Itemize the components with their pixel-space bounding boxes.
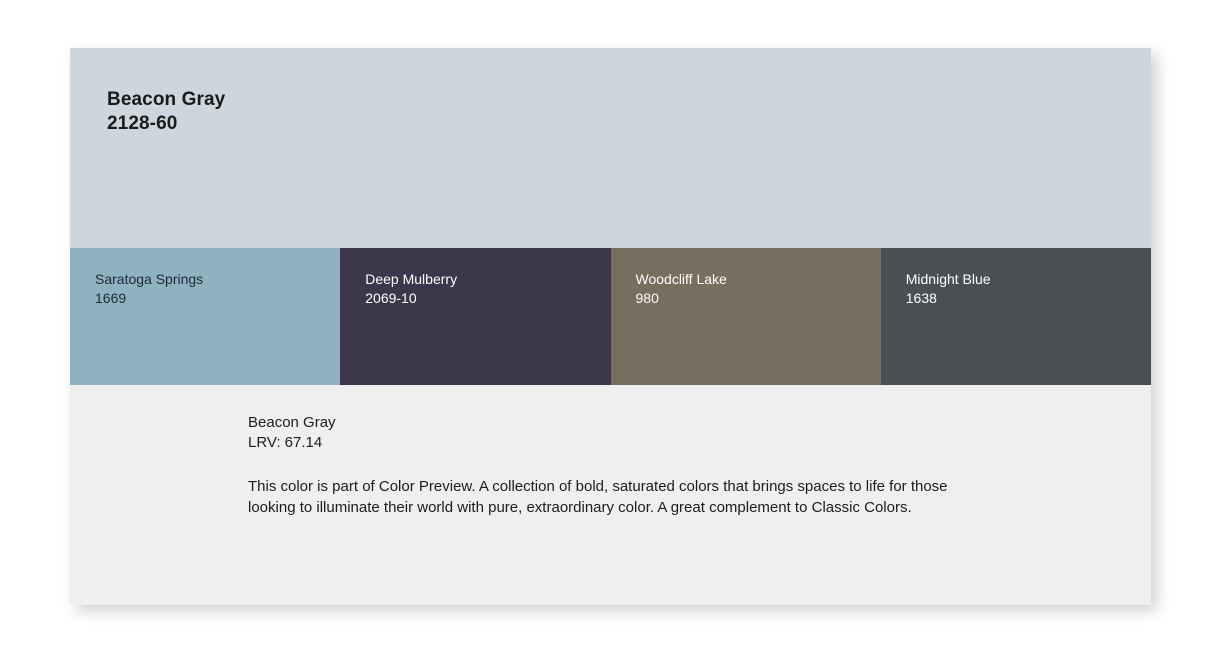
swatch-color-name: Woodcliff Lake [636,270,727,289]
info-lrv-value: LRV: 67.14 [248,433,948,453]
swatch-color-name: Midnight Blue [906,270,991,289]
swatch-deep-mulberry[interactable]: Deep Mulberry 2069-10 [340,248,610,385]
swatch-color-code: 2069-10 [365,289,457,308]
swatch-color-code: 980 [636,289,727,308]
swatch-saratoga-springs[interactable]: Saratoga Springs 1669 [70,248,340,385]
swatch-color-code: 1669 [95,289,203,308]
color-info-text-block: Beacon Gray LRV: 67.14 This color is par… [248,413,948,519]
info-color-name: Beacon Gray [248,413,948,433]
swatch-label-group: Deep Mulberry 2069-10 [365,270,457,307]
color-info-panel: Beacon Gray LRV: 67.14 This color is par… [70,385,1151,605]
hero-color-panel: Beacon Gray 2128-60 [70,48,1151,248]
hero-color-code: 2128-60 [107,112,225,136]
swatch-label-group: Midnight Blue 1638 [906,270,991,307]
swatch-midnight-blue[interactable]: Midnight Blue 1638 [881,248,1151,385]
info-description: This color is part of Color Preview. A c… [248,476,948,519]
color-detail-card: Beacon Gray 2128-60 Saratoga Springs 166… [70,48,1151,605]
swatch-label-group: Saratoga Springs 1669 [95,270,203,307]
hero-label-group: Beacon Gray 2128-60 [107,88,225,137]
coordinating-color-swatches: Saratoga Springs 1669 Deep Mulberry 2069… [70,248,1151,385]
swatch-label-group: Woodcliff Lake 980 [636,270,727,307]
swatch-color-name: Deep Mulberry [365,270,457,289]
swatch-color-name: Saratoga Springs [95,270,203,289]
hero-color-name: Beacon Gray [107,88,225,112]
swatch-woodcliff-lake[interactable]: Woodcliff Lake 980 [611,248,881,385]
swatch-color-code: 1638 [906,289,991,308]
